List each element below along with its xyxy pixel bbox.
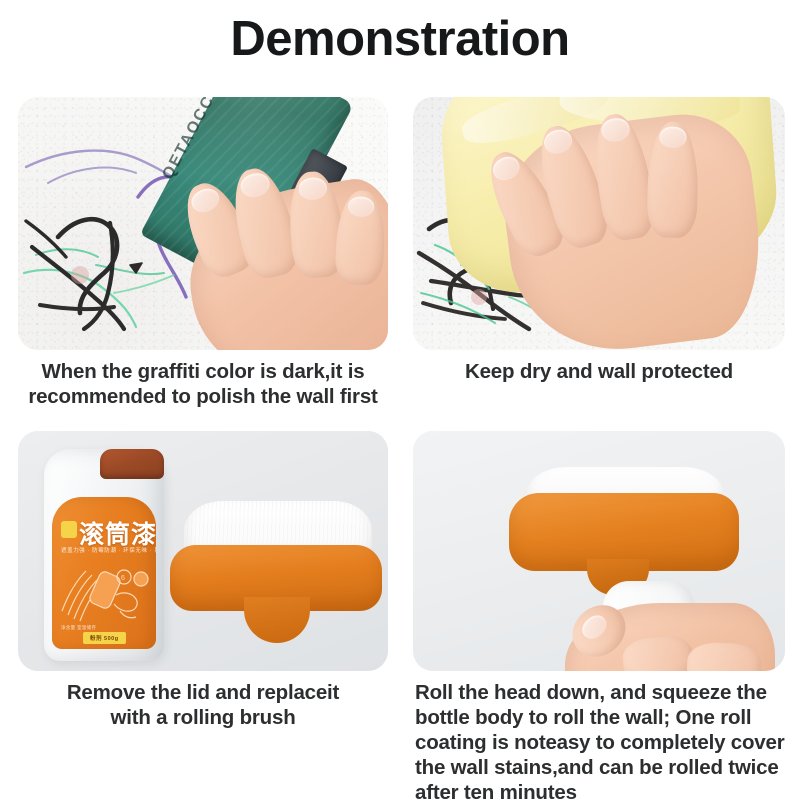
fingernail	[489, 153, 523, 185]
fingernail	[238, 171, 272, 200]
svg-text:6: 6	[121, 575, 125, 582]
label-badge-icon	[61, 521, 77, 538]
caption-line: bottle body to roll the wall; One roll	[415, 705, 785, 730]
paint-bottle-and-roller-head-photo: 滚筒漆 遮盖力强 · 防霉防潮 · 环保无味 · 易涂刷	[18, 431, 388, 671]
roller-neck	[244, 597, 310, 643]
roller-brush-head	[170, 501, 382, 643]
hand	[565, 603, 775, 671]
label-weight-badge: 粉剂 500g	[83, 632, 126, 644]
finger	[621, 633, 695, 671]
fingernail	[298, 177, 328, 201]
roller-usage-illustration-icon: 6	[58, 555, 150, 627]
caption-line: recommended to polish the wall first	[18, 384, 388, 409]
grid-row-top: QETAOCC 18S	[0, 97, 800, 409]
caption-line: coating is noteasy to completely cover	[415, 730, 785, 755]
fingernail	[600, 116, 631, 143]
caption-line: Remove the lid and replaceit	[18, 680, 388, 705]
caption-roll-wall: Roll the head down, and squeeze the bott…	[413, 671, 785, 805]
grid-row-bottom: 滚筒漆 遮盖力强 · 防霉防潮 · 环保无味 · 易涂刷	[0, 431, 800, 805]
rolling-bottle-on-wall-photo	[413, 431, 785, 671]
bottle-cap	[100, 449, 164, 479]
finger	[686, 642, 762, 671]
fingernail	[541, 127, 575, 157]
panel-wipe: Keep dry and wall protected	[400, 97, 800, 409]
sanding-block-on-graffiti-wall-photo: QETAOCC 18S	[18, 97, 388, 350]
hand	[177, 173, 388, 350]
panel-replace-lid: 滚筒漆 遮盖力强 · 防霉防潮 · 环保无味 · 易涂刷	[0, 431, 400, 805]
caption-line: the wall stains,and can be rolled twice	[415, 755, 785, 780]
fingernail	[578, 611, 611, 643]
bottle-label: 滚筒漆 遮盖力强 · 防霉防潮 · 环保无味 · 易涂刷	[52, 497, 156, 649]
caption-replace-lid: Remove the lid and replaceit with a roll…	[18, 671, 388, 730]
caption-polish: When the graffiti color is dark,it is re…	[18, 350, 388, 409]
demonstration-grid: QETAOCC 18S	[0, 97, 800, 805]
panel-roll-wall: Roll the head down, and squeeze the bott…	[400, 431, 800, 805]
finger	[334, 190, 387, 286]
caption-line: Roll the head down, and squeeze the	[415, 680, 785, 705]
roller-brush-head	[509, 467, 739, 597]
caption-line: with a rolling brush	[18, 705, 388, 730]
page-title: Demonstration	[0, 0, 800, 68]
label-subtitle-text: 遮盖力强 · 防霉防潮 · 环保无味 · 易涂刷	[61, 546, 156, 554]
caption-line: When the graffiti color is dark,it is	[18, 359, 388, 384]
caption-line: after ten minutes	[415, 780, 785, 805]
label-footnote-text: 净含量 室温储存	[61, 625, 96, 631]
yellow-cloth-wiping-wall-photo	[413, 97, 785, 350]
fingernail	[659, 127, 686, 148]
fingernail	[188, 185, 222, 216]
fingernail	[348, 196, 375, 217]
panel-polish: QETAOCC 18S	[0, 97, 400, 409]
caption-wipe: Keep dry and wall protected	[413, 350, 785, 384]
finger	[647, 121, 699, 238]
paint-bottle: 滚筒漆 遮盖力强 · 防霉防潮 · 环保无味 · 易涂刷	[44, 449, 164, 661]
caption-line: Keep dry and wall protected	[413, 359, 785, 384]
